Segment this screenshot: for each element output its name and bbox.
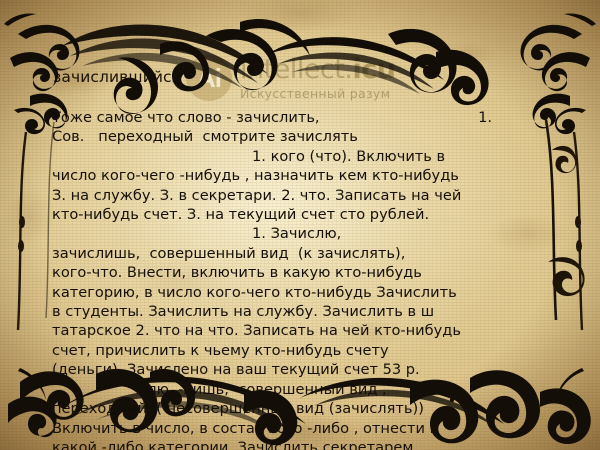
entry-line-text: Тоже самое что слово - зачислить, <box>52 109 320 126</box>
entry-line: Включить в число, в состав кого -либо , … <box>52 419 554 438</box>
entry-line: (деньги). Зачислено на ваш текущий счет … <box>52 360 554 379</box>
entry-line: в студенты. Зачислить на службу. Зачисли… <box>52 302 554 321</box>
entry-line: З. на службу. З. в секретари. 2. что. За… <box>52 186 554 205</box>
entry-line: 1. Зачислю, <box>52 224 554 243</box>
dictionary-entry-image: зачислившийся Тоже самое что слово - зач… <box>0 0 600 450</box>
entry-body-text: Тоже самое что слово - зачислить,1.Сов. … <box>52 108 554 450</box>
entry-line: счет, причислить к чьему кто-нибудь счет… <box>52 341 554 360</box>
entry-line: Тоже самое что слово - зачислить,1. <box>52 108 554 127</box>
entry-line: Сов. переходный смотрите зачислять <box>52 127 554 146</box>
entry-line-number: 1. <box>478 108 492 127</box>
entry-line: кто-нибудь счет. З. на текущий счет сто … <box>52 205 554 224</box>
entry-line: категорию, в число кого-чего кто-нибудь … <box>52 283 554 302</box>
entry-line: число кого-чего -нибудь , назначить кем … <box>52 166 554 185</box>
entry-line: -лю, -лишь; совершенный вид , <box>52 380 554 399</box>
entry-line: татарское 2. что на что. Записать на чей… <box>52 321 554 340</box>
entry-title: зачислившийся <box>53 68 181 86</box>
entry-line: кого-что. Внести, включить в какую кто-н… <box>52 263 554 282</box>
entry-line: зачислишь, совершенный вид (к зачислять)… <box>52 244 554 263</box>
entry-line: 1. кого (что). Включить в <box>52 147 554 166</box>
entry-line: какой -либо категории. Зачислить секрета… <box>52 438 554 450</box>
entry-line: переходный ( несовершенный вид (зачислят… <box>52 399 554 418</box>
